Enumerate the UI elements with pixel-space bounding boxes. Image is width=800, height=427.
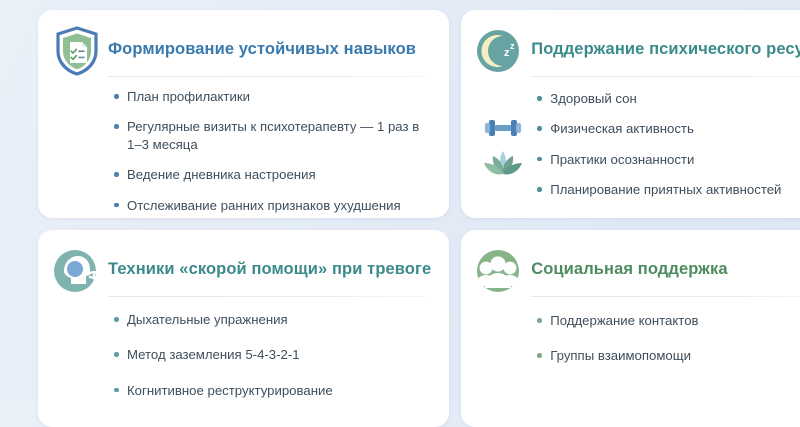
svg-text:z: z [504, 47, 510, 59]
card-header: Техники «скорой помощи» при тревоге [108, 244, 431, 294]
list-item: Ведение дневника настроения [114, 166, 427, 183]
card-emergency-techniques: Техники «скорой помощи» при тревоге Дыха… [38, 230, 449, 427]
card-header: Социальная поддержка [531, 244, 800, 294]
list-item: Группы взаимопомощи [537, 347, 800, 364]
list-item: Планирование приятных активностей [537, 181, 800, 198]
card-social-support: Социальная поддержка Поддержание контакт… [461, 230, 800, 427]
card-title: Поддержание психического ресурса [531, 40, 800, 59]
infographic-board: Формирование устойчивых навыков План про… [0, 0, 800, 400]
card-skills: Формирование устойчивых навыков План про… [38, 10, 449, 218]
bullet-list: Здоровый сон Физическая активность Практ… [479, 90, 800, 199]
title-divider [531, 296, 800, 297]
list-item: Поддержание контактов [537, 312, 800, 329]
shield-checklist-icon [50, 24, 104, 78]
bullet-list: План профилактики Регулярные визиты к пс… [56, 88, 431, 214]
list-item: Когнитивное реструктурирование [114, 382, 427, 399]
list-item: Практики осознанности [537, 151, 800, 168]
svg-text:z: z [510, 41, 515, 51]
card-header: Формирование устойчивых навыков [108, 24, 431, 74]
list-item: Метод заземления 5-4-3-2-1 [114, 346, 427, 363]
list-item: Здоровый сон [537, 90, 800, 107]
bullet-list: Дыхательные упражнения Метод заземления … [56, 311, 431, 399]
card-header: Поддержание психического ресурса [531, 24, 800, 74]
list-item: Дыхательные упражнения [114, 311, 427, 328]
title-divider [108, 296, 425, 297]
head-breathing-icon [50, 244, 104, 298]
card-title: Техники «скорой помощи» при тревоге [108, 260, 431, 279]
list-item: Физическая активность [537, 120, 800, 137]
card-title: Социальная поддержка [531, 260, 727, 279]
title-divider [531, 76, 800, 77]
list-item: Отслеживание ранних признаков ухудшения [114, 197, 427, 214]
card-title: Формирование устойчивых навыков [108, 40, 416, 59]
bullet-list: Поддержание контактов Группы взаимопомощ… [479, 312, 800, 365]
title-divider [108, 76, 425, 77]
list-item: Регулярные визиты к психотерапевту — 1 р… [114, 118, 427, 153]
list-item: План профилактики [114, 88, 427, 105]
moon-sleep-icon: z z [473, 24, 527, 78]
card-mental-resource: z z Поддержание психического ресурса [461, 10, 800, 218]
people-group-icon [473, 244, 527, 298]
